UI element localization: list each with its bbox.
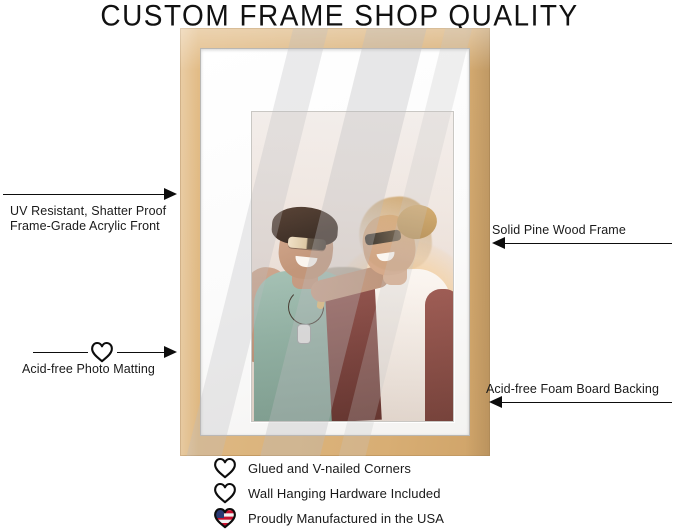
callout-label-foam-board-backing: Acid-free Foam Board Backing (486, 382, 659, 397)
callout-line-photo-matting-a (33, 352, 88, 353)
callout-label-acrylic-front-line2: Frame-Grade Acrylic Front (10, 219, 166, 234)
photo-window (252, 112, 453, 421)
heart-flag-usa-icon (213, 507, 237, 529)
arrow-right-icon (164, 188, 177, 200)
callout-line-pine-wood-frame (505, 243, 672, 244)
photo-tone-overlay (252, 112, 453, 421)
photo-mat (201, 49, 469, 435)
feature-label: Glued and V-nailed Corners (248, 461, 411, 476)
feature-item-wall-hardware: Wall Hanging Hardware Included (213, 482, 441, 504)
callout-label-pine-wood-frame: Solid Pine Wood Frame (492, 223, 626, 238)
callout-line-photo-matting-b (117, 352, 165, 353)
callout-label-photo-matting: Acid-free Photo Matting (22, 362, 155, 377)
product-photo (252, 112, 453, 421)
product-frame (180, 28, 490, 456)
feature-label: Wall Hanging Hardware Included (248, 486, 441, 501)
infographic-page: CUSTOM FRAME SHOP QUALITY (0, 0, 679, 530)
callout-line-foam-board-backing (502, 402, 672, 403)
heart-icon (213, 457, 237, 479)
callout-label-acrylic-front-line1: UV Resistant, Shatter Proof (10, 204, 166, 219)
arrow-left-icon (489, 396, 502, 408)
callout-line-acrylic-front (3, 194, 165, 195)
arrow-right-icon (164, 346, 177, 358)
arrow-left-icon (492, 237, 505, 249)
heart-icon (213, 482, 237, 504)
feature-item-made-in-usa: Proudly Manufactured in the USA (213, 507, 444, 529)
heart-icon (90, 341, 114, 363)
callout-label-acrylic-front: UV Resistant, Shatter Proof Frame-Grade … (10, 204, 166, 234)
feature-label: Proudly Manufactured in the USA (248, 511, 444, 526)
feature-item-glued-corners: Glued and V-nailed Corners (213, 457, 411, 479)
